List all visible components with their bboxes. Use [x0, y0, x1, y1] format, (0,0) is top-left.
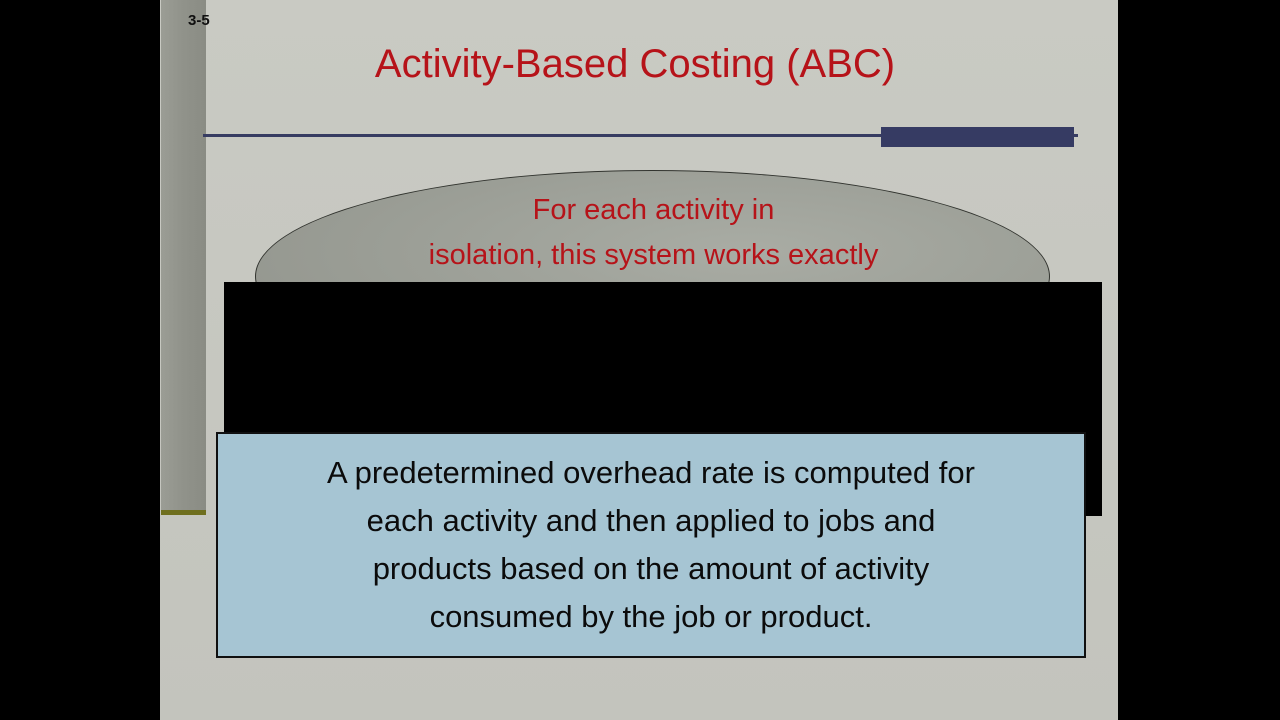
slide-canvas: 3-5 Activity-Based Costing (ABC) For eac…	[160, 0, 1118, 720]
callout-box-line-2: each activity and then applied to jobs a…	[231, 497, 1071, 545]
ellipse-line-1: For each activity in	[429, 188, 879, 233]
letterbox-right	[1118, 0, 1280, 720]
callout-box: A predetermined overhead rate is compute…	[216, 432, 1086, 658]
slide-left-accent-band	[161, 0, 206, 512]
callout-box-line-1: A predetermined overhead rate is compute…	[231, 449, 1071, 497]
callout-box-text: A predetermined overhead rate is compute…	[231, 449, 1071, 641]
slide-number: 3-5	[188, 13, 210, 28]
slide-left-accent-rule	[161, 510, 206, 515]
callout-box-line-3: products based on the amount of activity	[231, 545, 1071, 593]
ellipse-line-2: isolation, this system works exactly	[429, 233, 879, 278]
callout-box-line-4: consumed by the job or product.	[231, 593, 1071, 641]
presentation-screen: 3-5 Activity-Based Costing (ABC) For eac…	[0, 0, 1280, 720]
title-accent-block	[881, 127, 1074, 147]
page-title: Activity-Based Costing (ABC)	[220, 43, 1050, 85]
letterbox-left	[0, 0, 160, 720]
